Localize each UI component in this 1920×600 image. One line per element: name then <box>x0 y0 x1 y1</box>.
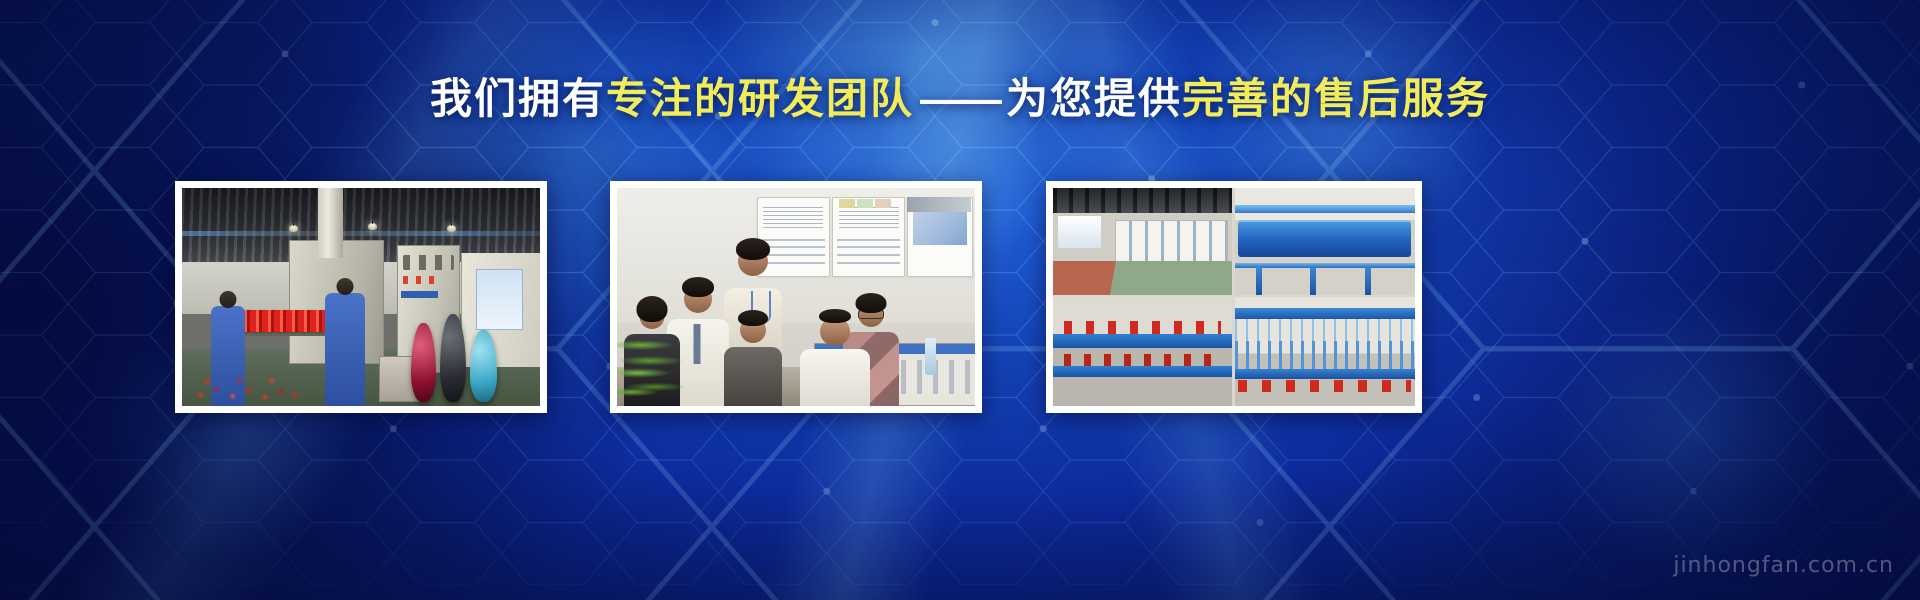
banner-headline: 我们拥有专注的研发团队——为您提供完善的售后服务 <box>430 78 1490 120</box>
worker-figure <box>325 293 365 406</box>
technical-poster <box>832 197 906 277</box>
site-watermark: jinhongfan.com.cn <box>1673 553 1894 578</box>
photo-card-factory-coating-line[interactable] <box>175 181 547 413</box>
product-vase-black <box>440 314 466 401</box>
photo-card-rnd-team-meeting[interactable] <box>610 181 982 413</box>
headline-dash: —— <box>914 75 1006 122</box>
poster-swatch <box>875 199 891 208</box>
promo-banner: 我们拥有专注的研发团队——为您提供完善的售后服务 <box>0 0 1920 600</box>
window-light <box>1058 216 1101 248</box>
foreground-plant <box>617 319 696 406</box>
poster-swatch <box>857 199 873 208</box>
support-leg <box>1256 267 1262 295</box>
ceiling-lamp-icon <box>447 225 456 232</box>
red-parts-row <box>1238 380 1411 392</box>
conveyor-rail <box>1053 334 1232 348</box>
painted-floor <box>1053 261 1232 295</box>
attendee-seated <box>800 349 870 406</box>
support-leg <box>1310 267 1316 295</box>
photo-rnd-team-meeting <box>617 188 975 406</box>
collage-cell-hanging-line <box>1235 297 1415 406</box>
support-leg <box>1365 267 1371 295</box>
tunnel-document-panel <box>476 269 522 330</box>
poster-swatch <box>839 199 855 208</box>
collage-cell-workshop-hall <box>1053 188 1232 295</box>
poster-header-photo <box>907 197 971 212</box>
collage-cell-conveyor <box>1053 297 1232 406</box>
overhead-rail <box>1235 308 1415 319</box>
photo-production-workshop-collage <box>1053 188 1415 406</box>
headline-segment-3: 为您提供 <box>1006 75 1182 122</box>
roof-trusses <box>1053 188 1232 213</box>
exhaust-duct <box>318 188 343 258</box>
blue-duct-housing <box>1238 220 1411 256</box>
control-knobs <box>403 255 454 270</box>
collage-cell-blue-ducting <box>1235 188 1415 295</box>
headline-segment-1: 我们拥有 <box>430 75 606 122</box>
headline-segment-2-highlight: 专注的研发团队 <box>606 75 914 122</box>
photo-factory-coating-line <box>182 188 540 406</box>
water-bottle-icon <box>925 338 936 375</box>
overhead-pipe <box>1235 205 1415 213</box>
hanging-hooks-lower <box>1235 341 1415 369</box>
ceiling-lamp-icon <box>368 223 377 230</box>
indicator-lights <box>403 276 440 284</box>
red-spheres-pile <box>189 369 304 406</box>
glasses-icon <box>858 310 884 319</box>
photo-card-production-workshop-collage[interactable] <box>1046 181 1422 413</box>
headline-segment-4-highlight: 完善的售后服务 <box>1182 75 1490 122</box>
photo-gallery <box>0 181 1920 413</box>
attendee-seated <box>724 347 782 406</box>
base-rail <box>1235 369 1415 379</box>
conveyor-rail <box>1053 366 1232 377</box>
ceiling-lamp-icon <box>289 225 298 232</box>
panel-label-strip <box>401 291 438 297</box>
headline-container: 我们拥有专注的研发团队——为您提供完善的售后服务 <box>0 78 1920 120</box>
